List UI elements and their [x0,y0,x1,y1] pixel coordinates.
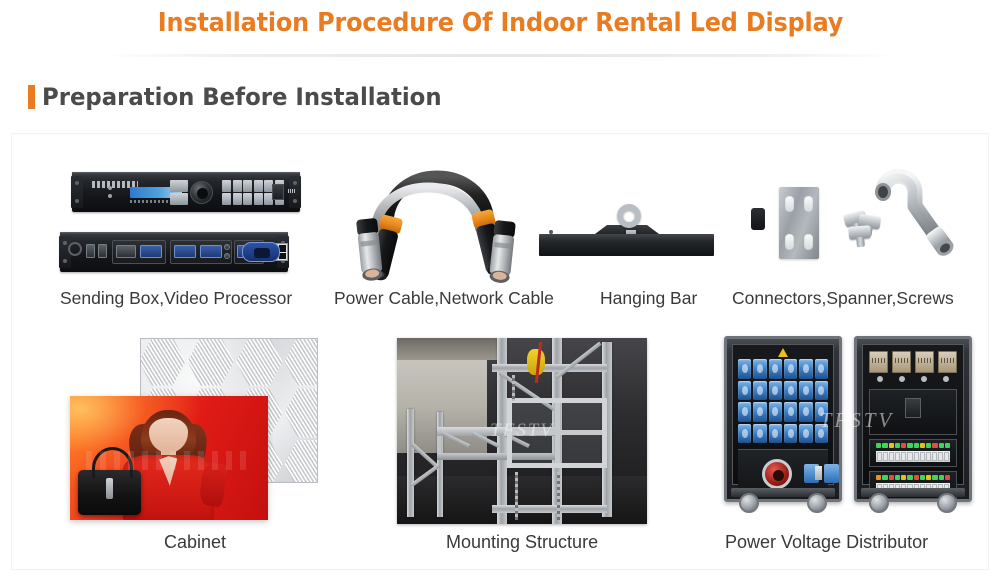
led-cabinet-image [70,338,320,528]
power-network-cable-image [342,144,532,289]
section-title: Preparation Before Installation [42,83,442,111]
page-title: Installation Procedure Of Indoor Rental … [157,8,842,38]
power-switch[interactable] [815,466,822,480]
caption-power-cable: Power Cable,Network Cable [334,288,554,309]
caster-wheel [937,493,957,513]
section-heading: Preparation Before Installation [28,83,1000,111]
cable-illustration [342,144,532,289]
title-bar: Installation Procedure Of Indoor Rental … [0,0,1000,46]
caption-sending-box: Sending Box,Video Processor [60,288,292,309]
power-voltage-distributor-image: TFSTV [724,336,974,526]
voltage-meters [869,351,957,373]
caster-wheel [739,493,759,513]
mounting-structure-image: TFSTV [397,338,647,524]
hanging-bar-body [539,234,714,256]
eye-bolt-ring-icon [617,204,641,228]
warning-triangle-icon [778,348,788,357]
distributor-unit-meters [854,336,972,502]
video-processor-front-view [72,172,300,212]
connector-plate-icon [779,187,819,259]
caption-power-distributor: Power Voltage Distributor [725,532,928,553]
caster-wheel [807,493,827,513]
page-root: Installation Procedure Of Indoor Rental … [0,0,1000,578]
video-processor-image [60,172,305,287]
connectors-spanner-screws-image [757,160,982,286]
input-power-connector [762,459,792,489]
accent-bar-icon [28,85,35,109]
watermark-text: TFSTV [462,420,582,444]
preparation-row-2: Cabinet [12,330,990,571]
display-content-handbag [78,470,141,515]
caster-wheel [869,493,889,513]
video-processor-rear-view [60,232,288,272]
caption-hanging-bar: Hanging Bar [600,288,697,309]
spanner-icon [869,162,974,262]
hanging-bar-image [539,192,714,270]
black-bracket-piece [751,208,765,230]
distributor-unit-sockets [724,336,842,502]
caption-cabinet: Cabinet [164,532,226,553]
caption-connectors: Connectors,Spanner,Screws [732,288,954,309]
preparation-row-1: Sending Box,Video Processor [12,134,990,324]
caption-mounting-structure: Mounting Structure [446,532,598,553]
cabinet-front-led-display [70,396,268,520]
title-divider [100,54,900,57]
content-frame: Sending Box,Video Processor [11,133,989,570]
socket-grid [738,359,828,443]
